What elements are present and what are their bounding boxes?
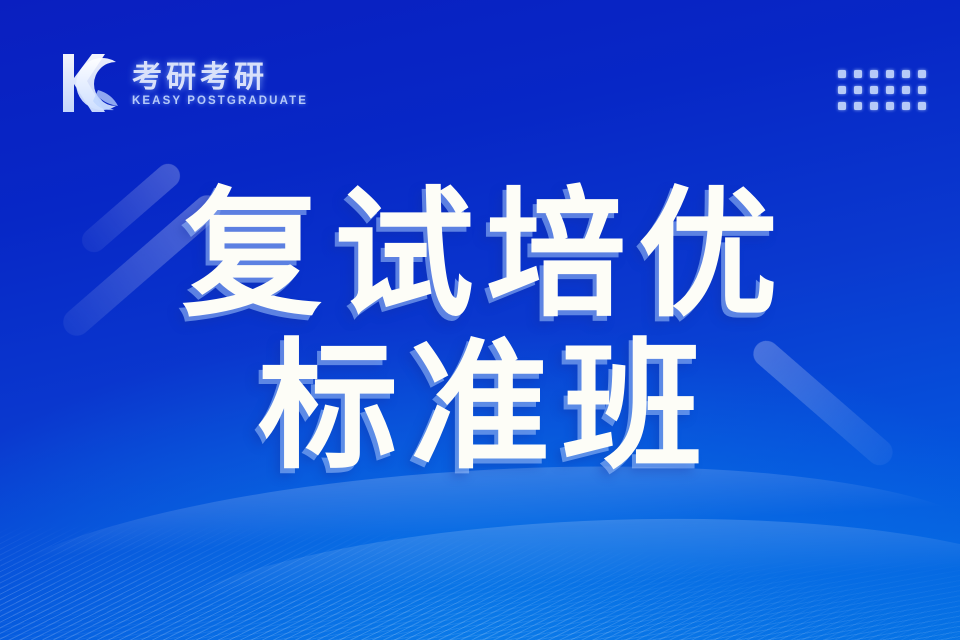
grid-dot — [902, 70, 910, 78]
brand-name-cn: 考研考研 — [132, 63, 308, 93]
headline-line-1: 复试培优 — [12, 186, 960, 326]
grid-dot — [918, 86, 926, 94]
grid-dot — [870, 102, 878, 110]
grid-dot — [854, 102, 862, 110]
brand-logo-text: 考研考研 KEASY POSTGRADUATE — [132, 59, 308, 108]
grid-dot — [838, 102, 846, 110]
brand-logo[interactable]: 考研考研 KEASY POSTGRADUATE — [58, 48, 308, 118]
grid-dot — [870, 70, 878, 78]
brand-name-en: KEASY POSTGRADUATE — [132, 96, 308, 108]
promo-banner: 考研考研 KEASY POSTGRADUATE 复试培优 标准班 — [0, 0, 960, 640]
grid-dot — [886, 70, 894, 78]
grid-dot — [854, 86, 862, 94]
grid-dot — [886, 86, 894, 94]
grid-dot — [838, 70, 846, 78]
grid-dot — [902, 86, 910, 94]
grid-dot — [918, 102, 926, 110]
headline-block: 复试培优 标准班 — [0, 186, 960, 478]
grid-dot — [870, 86, 878, 94]
headline-line-2: 标准班 — [12, 338, 960, 478]
grid-dot — [902, 102, 910, 110]
grid-dot — [838, 86, 846, 94]
grid-dot — [886, 102, 894, 110]
grid-dot — [854, 70, 862, 78]
dot-grid-decoration — [838, 70, 929, 113]
grid-dot — [918, 70, 926, 78]
keasy-phoenix-monogram-icon — [58, 48, 122, 118]
